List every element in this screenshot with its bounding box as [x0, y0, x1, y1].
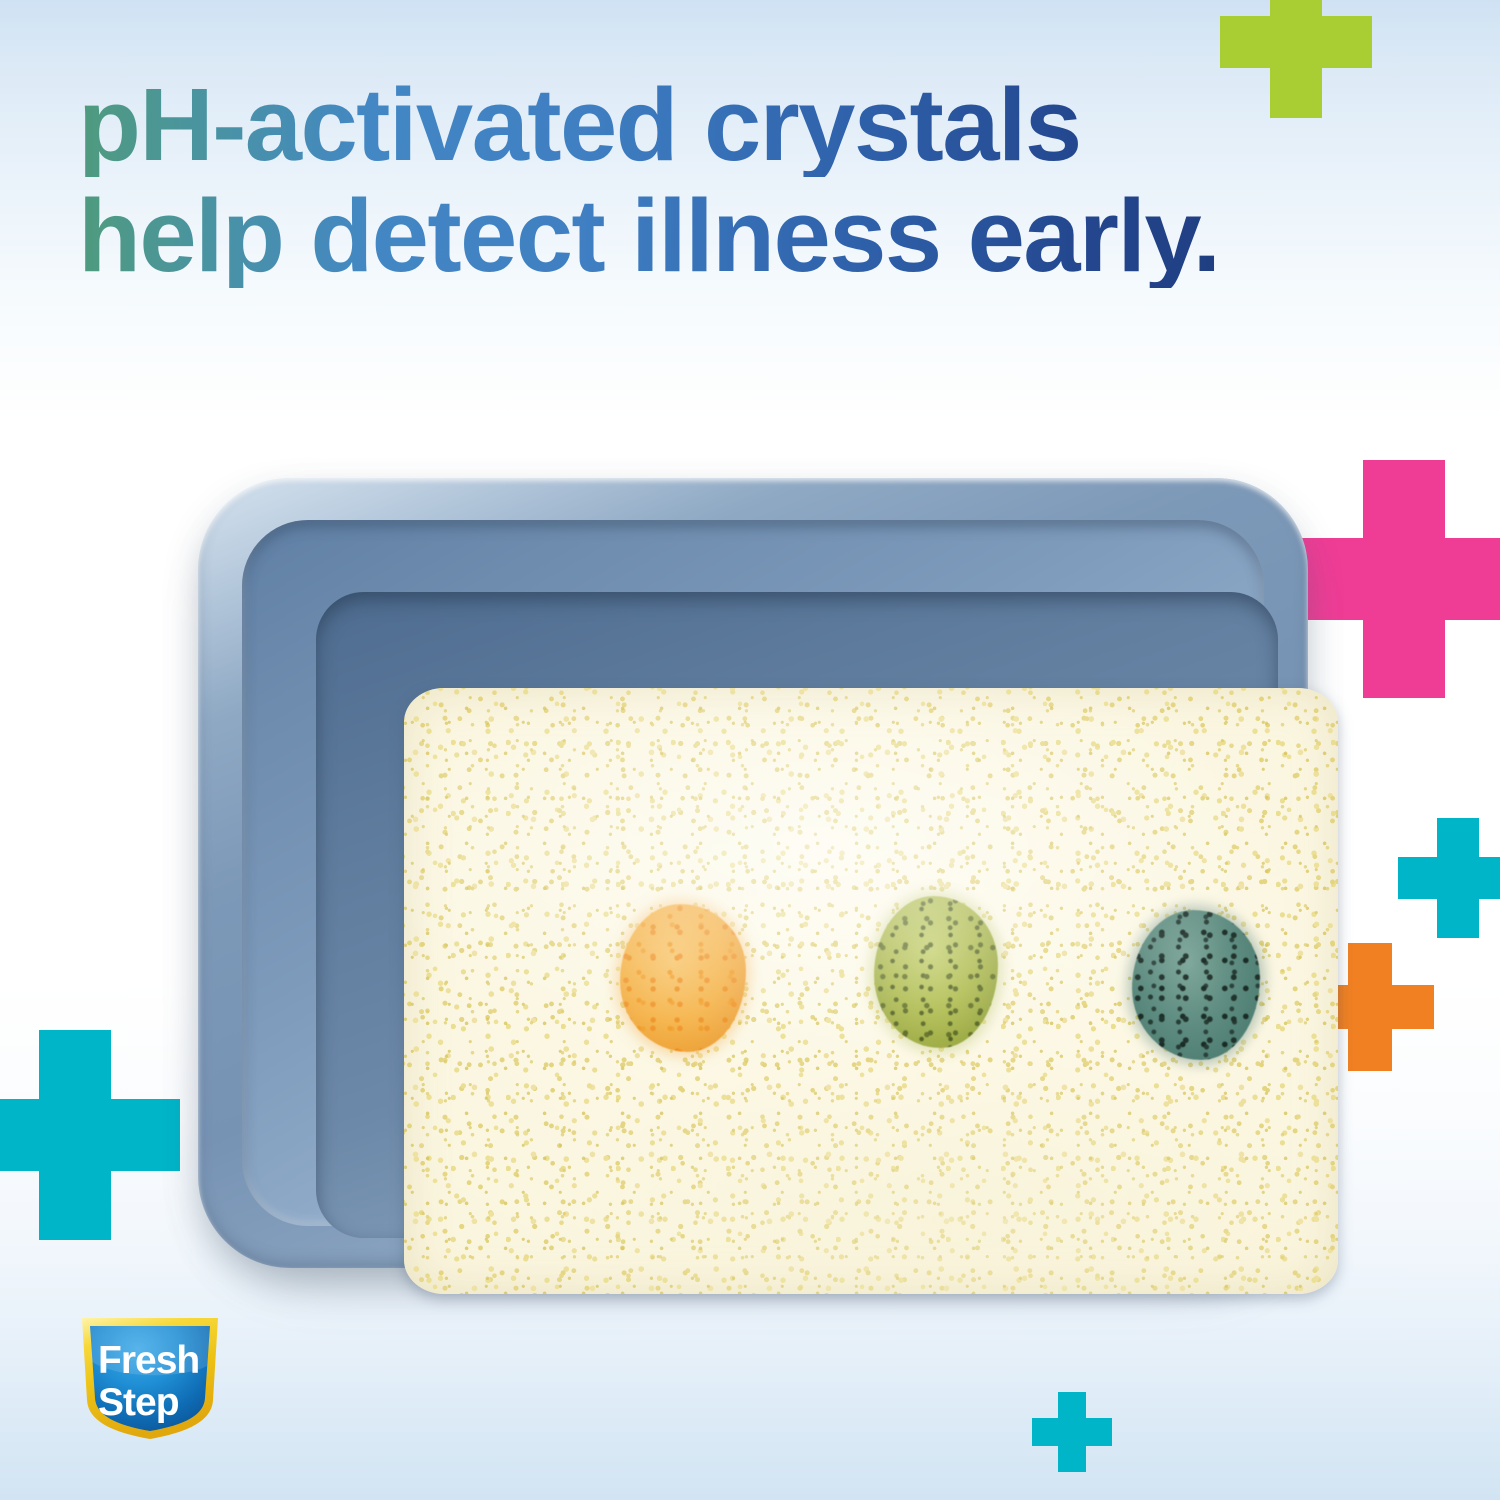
teal-plus-icon — [1398, 818, 1500, 938]
ph-spot-teal-grain — [1132, 910, 1260, 1060]
headline: pH-activated crystals help detect illnes… — [78, 72, 1408, 288]
headline-line-1: pH-activated crystals — [78, 72, 1408, 177]
litter-box-rim-inner — [242, 520, 1264, 1226]
litter-bed — [404, 688, 1338, 1294]
teal-plus-icon-large — [0, 1030, 180, 1240]
ph-spot-green — [874, 896, 998, 1048]
fresh-step-logo: Fresh Step — [74, 1308, 226, 1444]
logo-word-step: Step — [98, 1381, 179, 1424]
ph-spot-teal — [1132, 910, 1260, 1060]
headline-line-2: help detect illness early. — [78, 183, 1408, 288]
ph-spot-green-grain — [874, 896, 998, 1048]
litter-box-photo — [198, 478, 1308, 1278]
litter-box-tray — [198, 478, 1308, 1268]
litter-box-wall — [316, 592, 1278, 1238]
logo-word-fresh: Fresh — [98, 1339, 199, 1382]
ph-spot-orange — [620, 904, 746, 1052]
marketing-image-canvas: pH-activated crystals help detect illnes… — [0, 0, 1500, 1500]
teal-plus-icon-small — [1032, 1392, 1112, 1472]
pink-plus-icon — [1285, 460, 1500, 698]
ph-spot-orange-grain — [620, 904, 746, 1052]
